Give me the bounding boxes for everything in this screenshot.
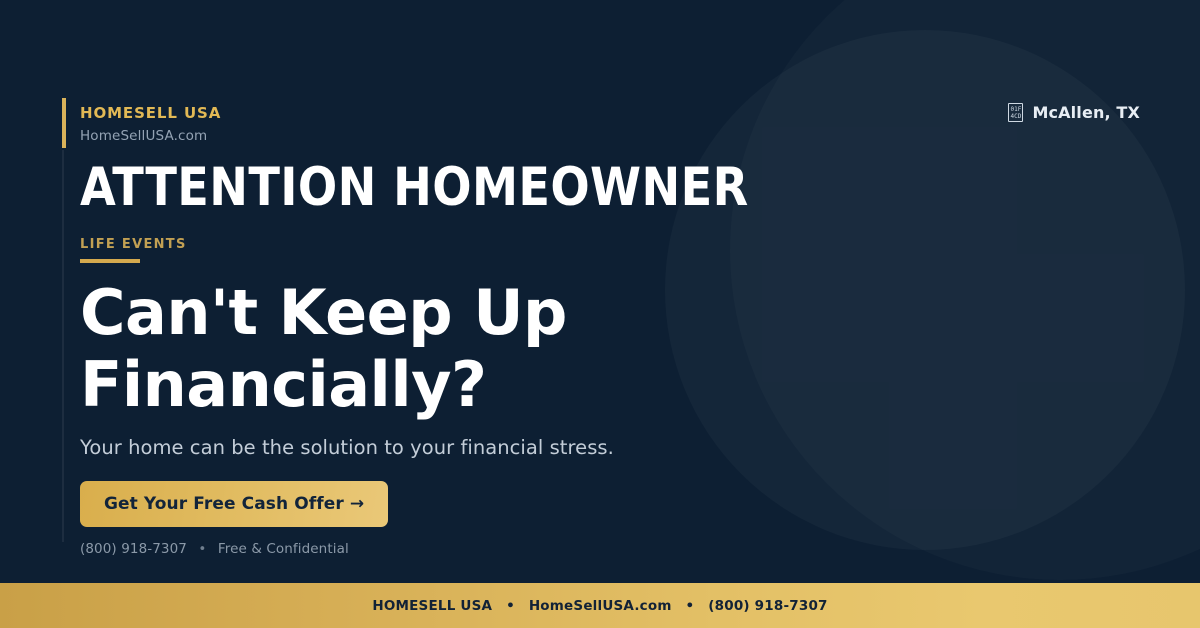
- contact-phone[interactable]: (800) 918-7307: [80, 541, 187, 557]
- map-pin-icon: 01F 4CD: [1008, 103, 1023, 122]
- contact-separator: •: [198, 541, 206, 557]
- eyebrow-underline: [80, 259, 140, 263]
- ad-content: HOMESELL USA HomeSellUSA.com ATTENTION H…: [80, 0, 800, 583]
- main-headline: Can't Keep Up Financially?: [80, 277, 720, 421]
- contact-line: (800) 918-7307 • Free & Confidential: [80, 541, 349, 557]
- cta-button[interactable]: Get Your Free Cash Offer →: [80, 481, 388, 527]
- category-eyebrow: LIFE EVENTS: [80, 237, 187, 252]
- footer-separator-2: •: [686, 598, 695, 614]
- tofu-codepoint-bottom: 4CD: [1011, 113, 1022, 120]
- footer-website[interactable]: HomeSellUSA.com: [529, 598, 672, 614]
- sub-headline: Your home can be the solution to your fi…: [80, 436, 614, 459]
- tofu-codepoint-top: 01F: [1011, 106, 1022, 113]
- vertical-divider-line: [62, 150, 64, 542]
- footer-separator-1: •: [506, 598, 515, 614]
- footer-bar: HOMESELL USA • HomeSellUSA.com • (800) 9…: [0, 583, 1200, 628]
- brand-website: HomeSellUSA.com: [80, 128, 221, 144]
- gold-accent-bar: [62, 98, 66, 148]
- ad-banner: 01F 4CD McAllen, TX HOMESELL USA HomeSel…: [0, 0, 1200, 628]
- footer-brand: HOMESELL USA: [372, 598, 492, 614]
- attention-headline: ATTENTION HOMEOWNER: [80, 161, 749, 214]
- footer-text: HOMESELL USA • HomeSellUSA.com • (800) 9…: [372, 598, 827, 614]
- location-badge: 01F 4CD McAllen, TX: [1008, 103, 1140, 122]
- location-label: McAllen, TX: [1032, 103, 1140, 122]
- brand-name: HOMESELL USA: [80, 104, 221, 122]
- footer-phone[interactable]: (800) 918-7307: [708, 598, 827, 614]
- decorative-circle-large: [730, 0, 1200, 580]
- brand-block: HOMESELL USA HomeSellUSA.com: [80, 104, 221, 144]
- contact-assurance: Free & Confidential: [218, 541, 349, 557]
